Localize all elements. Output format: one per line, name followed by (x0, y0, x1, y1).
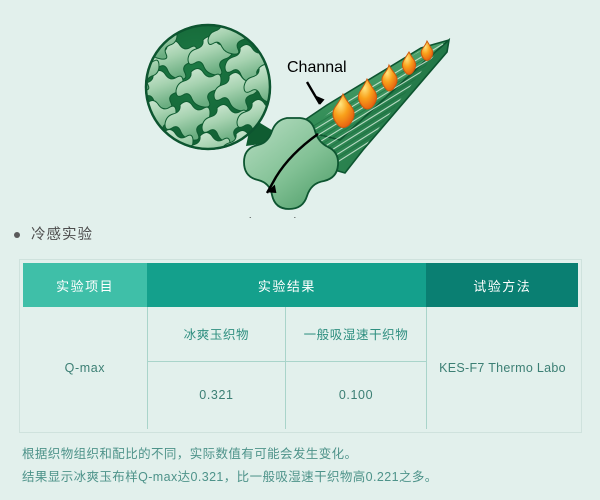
experiment-table: 实验项目 实验结果 试验方法 Q-max 冰爽玉织物 一般吸湿速干织物 KES-… (23, 263, 578, 429)
experiment-table-frame: 实验项目 实验结果 试验方法 Q-max 冰爽玉织物 一般吸湿速干织物 KES-… (19, 259, 582, 433)
channel-arrow-top-icon (307, 82, 325, 105)
notes-block: 根据织物组织和配比的不同，实际数值有可能会发生变化。 结果显示冰爽玉布样Q-ma… (22, 443, 582, 489)
cell-test-item: Q-max (23, 307, 147, 429)
table-header-row: 实验项目 实验结果 试验方法 (23, 263, 578, 307)
page-root: Channal Channal 冷感实验 实验项目 实验结果 (0, 0, 600, 500)
note-line-2: 结果显示冰爽玉布样Q-max达0.321，比一般吸湿速干织物高0.221之多。 (22, 466, 582, 489)
note-line-1: 根据织物组织和配比的不同，实际数值有可能会发生变化。 (22, 443, 582, 466)
section-heading: 冷感实验 (14, 224, 93, 246)
section-heading-label: 冷感实验 (31, 228, 93, 243)
channel-label-top: Channal (287, 59, 347, 76)
cell-test-method: KES-F7 Thermo Labo (426, 307, 578, 429)
table-header-method: 试验方法 (426, 263, 578, 307)
channel-label-bottom: Channal (237, 216, 297, 218)
cell-value-1: 0.321 (147, 361, 285, 429)
cell-sample-name-2: 一般吸湿速干织物 (286, 307, 427, 361)
fiber-channel-illustration: Channal Channal (0, 0, 600, 218)
table-header-result: 实验结果 (147, 263, 426, 307)
cell-sample-name-1: 冰爽玉织物 (147, 307, 285, 361)
bullet-dot-icon (14, 232, 20, 238)
table-row-sample-names: Q-max 冰爽玉织物 一般吸湿速干织物 KES-F7 Thermo Labo (23, 307, 578, 361)
cell-value-2: 0.100 (286, 361, 427, 429)
table-header-item: 实验项目 (23, 263, 147, 307)
